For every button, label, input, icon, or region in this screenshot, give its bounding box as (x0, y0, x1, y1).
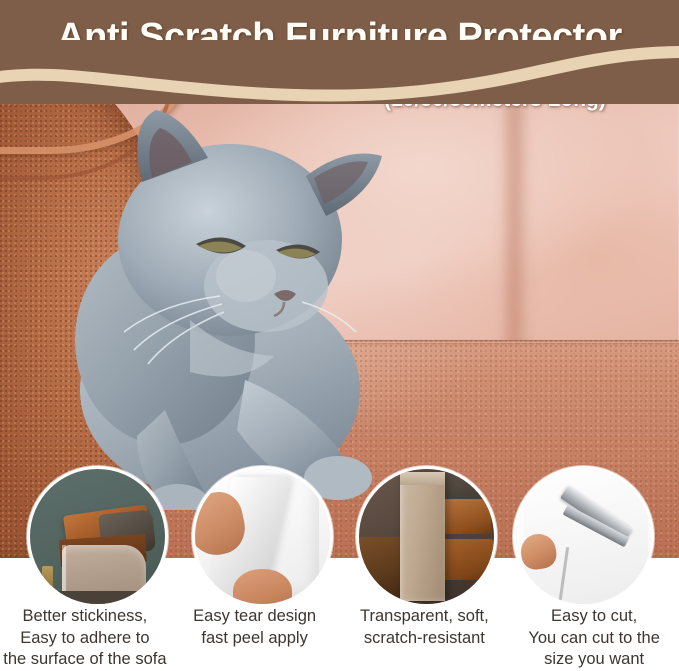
caption-better-stickiness: Better stickiness, Easy to adhere to the… (0, 606, 170, 671)
feature-captions: Better stickiness, Easy to adhere to the… (0, 606, 679, 671)
caption-line: the surface of the sofa (2, 649, 168, 671)
caption-line: Better stickiness, (2, 606, 168, 628)
feature-thumb-better-stickiness[interactable] (27, 466, 168, 607)
caption-easy-to-cut: Easy to cut, You can cut to the size you… (509, 606, 679, 671)
caption-line: scratch-resistant (342, 628, 508, 650)
feature-thumb-transparent-soft[interactable] (356, 466, 497, 607)
caption-line: Easy tear design (172, 606, 338, 628)
thumb-image-sofa-teal-room (30, 469, 165, 604)
feature-thumb-easy-tear[interactable] (192, 466, 333, 607)
feature-thumb-easy-to-cut[interactable] (513, 466, 654, 607)
header-wave-divider (0, 40, 679, 120)
caption-line: Easy to adhere to (2, 628, 168, 650)
thumb-image-hand-peeling-film (195, 469, 330, 604)
caption-line: Easy to cut, (511, 606, 677, 628)
caption-line: You can cut to the (511, 628, 677, 650)
caption-transparent-soft: Transparent, soft, scratch-resistant (340, 606, 510, 671)
caption-easy-tear: Easy tear design fast peel apply (170, 606, 340, 671)
cat-illustration (70, 90, 440, 510)
caption-line: size you want (511, 649, 677, 671)
feature-thumbnails (0, 466, 679, 606)
thumb-image-sofa-arm-protector (359, 469, 494, 604)
caption-line: fast peel apply (172, 628, 338, 650)
thumb-image-scissors-cutting-film (516, 469, 651, 604)
product-advertisement: Anti Scratch Furniture Protector A varie… (0, 0, 679, 671)
caption-line: Transparent, soft, (342, 606, 508, 628)
